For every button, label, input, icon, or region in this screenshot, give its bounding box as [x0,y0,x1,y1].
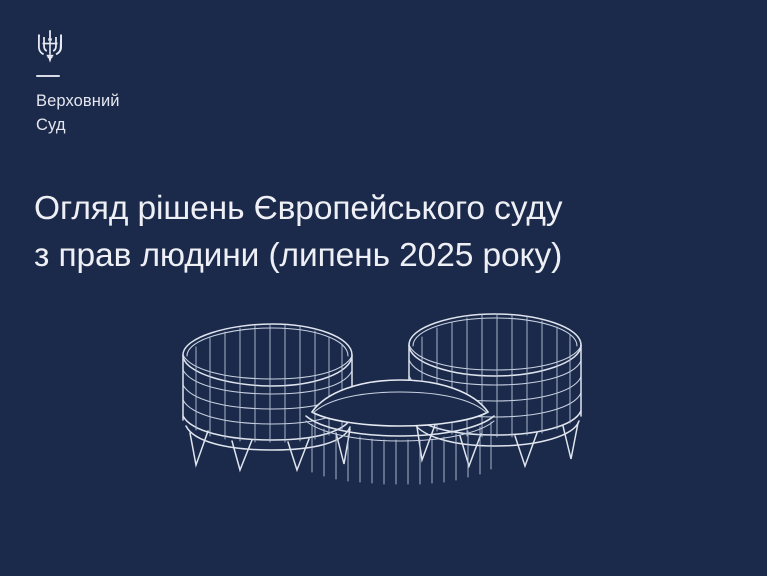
page-title: Огляд рішень Європейського суду з прав л… [34,186,694,280]
supreme-court-logo: Верховний Суд [33,30,233,138]
brand-name: Верховний Суд [36,89,233,138]
ukrainian-trident-icon [37,30,63,63]
logo-divider-rule [36,75,60,77]
echr-building-illustration [0,300,767,500]
title-slide: Верховний Суд Огляд рішень Європейського… [0,0,767,576]
left-rotunda [183,324,352,470]
